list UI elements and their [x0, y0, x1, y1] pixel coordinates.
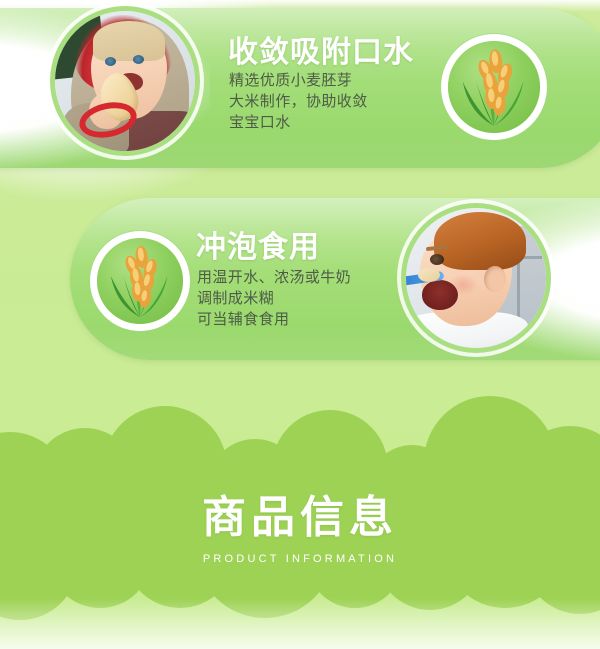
panel-body-line: 调制成米糊 [197, 288, 351, 309]
panel-title-astringent: 收敛吸附口水 [228, 38, 414, 68]
panel-body-line: 精选优质小麦胚芽 [229, 70, 368, 91]
panel-title-preparation: 冲泡食用 [196, 233, 320, 263]
product-detail-page: 收敛吸附口水 精选优质小麦胚芽 大米制作，协助收敛 宝宝口水 [0, 0, 600, 649]
page-subtitle: PRODUCT INFORMATION [0, 554, 600, 565]
wheat-icon-glyph [97, 238, 183, 324]
baby-eye [430, 254, 444, 265]
panel-body-line: 大米制作，协助收敛 [229, 91, 368, 112]
baby-hair [93, 21, 165, 61]
panel-body-preparation: 用温开水、浓汤或牛奶 调制成米糊 可当辅食食用 [197, 267, 351, 330]
baby-open-mouth [422, 280, 458, 310]
photo-content [406, 208, 546, 348]
baby-eating-biscuit-photo [55, 11, 195, 151]
baby-ear [484, 266, 506, 292]
page-title: 商品信息 [0, 496, 600, 540]
wheat-icon [448, 41, 540, 133]
photo-content [55, 11, 195, 151]
baby-left-eye [105, 57, 116, 66]
baby-being-fed-photo [406, 208, 546, 348]
panel-body-line: 可当辅食食用 [197, 309, 351, 330]
rice-cereal-on-spoon [418, 268, 440, 282]
baby-hair [434, 212, 526, 270]
panel-body-line: 宝宝口水 [229, 112, 368, 133]
baby-right-eye [133, 55, 144, 64]
panel-body-line: 用温开水、浓汤或牛奶 [197, 267, 351, 288]
wheat-icon [97, 238, 183, 324]
panel-body-astringent: 精选优质小麦胚芽 大米制作，协助收敛 宝宝口水 [229, 70, 368, 133]
wheat-icon-glyph [448, 41, 540, 133]
